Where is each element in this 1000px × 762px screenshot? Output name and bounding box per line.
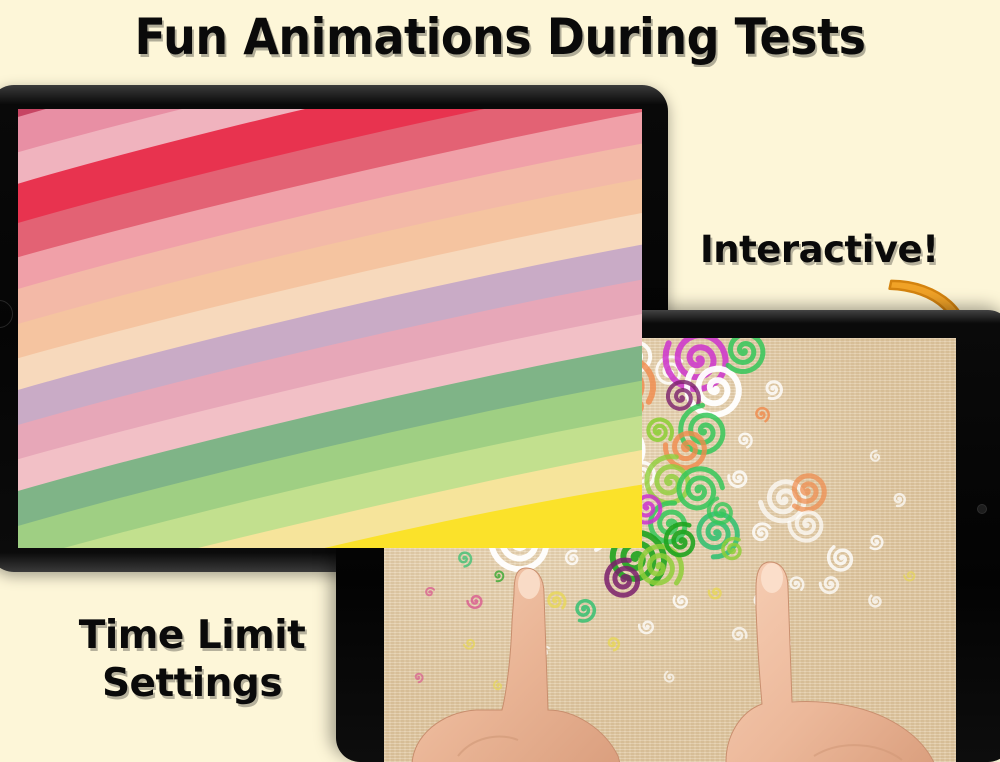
right-hand-index-finger — [722, 550, 956, 762]
tablet-device-back: PANDA — [0, 85, 668, 572]
left-hand-index-finger — [398, 560, 698, 762]
tablet-back-screen[interactable]: PANDA — [18, 109, 642, 548]
callout-time-limit-line1: Time Limit — [62, 612, 322, 660]
callout-interactive: Interactive! — [700, 228, 939, 271]
home-button[interactable] — [0, 300, 13, 328]
front-camera-icon — [978, 505, 986, 513]
screenshot-stage: Fun Animations During Tests PANDA Intera… — [0, 0, 1000, 750]
rainbow-wave-background — [18, 109, 642, 548]
callout-time-limit-line2: Settings — [62, 660, 322, 708]
page-title: Fun Animations During Tests — [40, 8, 960, 66]
callout-time-limit: Time Limit Settings — [62, 612, 322, 708]
